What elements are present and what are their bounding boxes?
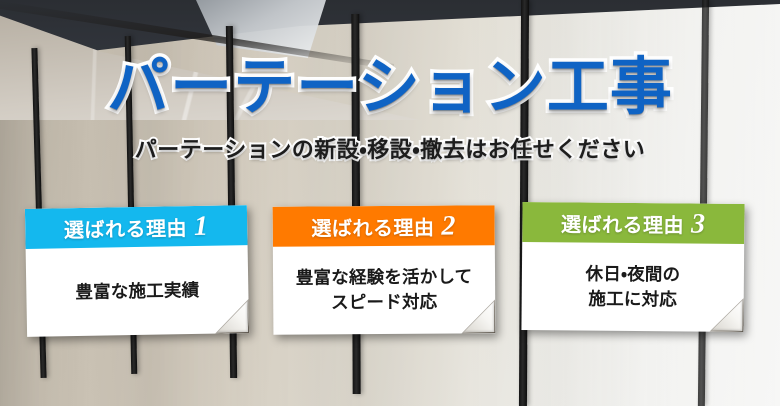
reason-card-3-body-text: 休日・夜間の 施工に対応 [585,262,680,313]
reason-card-3-body-line-2: 施工に対応 [585,287,680,313]
reason-card-list: 選ばれる理由 1 豊富な施工実績 選ばれる理由 2 豊富な経験 [0,0,780,406]
reason-card-1-number: 1 [194,213,209,241]
reason-card-2-body: 豊富な経験を活かして スピード対応 [273,245,496,335]
partition-construction-banner: パーテーション工事 パーテーションの新設・移設・撤去はお任せください 選ばれる理… [0,0,780,406]
reason-card-2-number: 2 [441,212,456,240]
reason-card-3-header: 選ばれる理由 3 [522,202,744,244]
reason-card-3[interactable]: 選ばれる理由 3 休日・夜間の 施工に対応 [521,202,744,332]
reason-card-2-body-line-1: 豊富な経験を活かして [296,265,473,291]
reason-card-1-header: 選ばれる理由 1 [25,205,248,249]
reason-card-3-number: 3 [691,211,706,239]
reason-card-1-body: 豊富な施工実績 [26,245,250,337]
reason-card-2-body-line-2: スピード対応 [296,289,473,315]
reason-card-1-body-line-1: 豊富な施工実績 [75,277,199,304]
reason-card-1[interactable]: 選ばれる理由 1 豊富な施工実績 [25,205,249,337]
reason-card-1-body-text: 豊富な施工実績 [75,277,199,304]
reason-card-2[interactable]: 選ばれる理由 2 豊富な経験を活かして スピード対応 [273,205,496,335]
reason-card-2-header-label: 選ばれる理由 [311,211,434,241]
reason-card-1-header-label: 選ばれる理由 [64,212,187,243]
reason-card-3-body-line-1: 休日・夜間の [585,262,680,288]
page-peel-corner-icon [709,298,743,332]
reason-card-2-header: 選ばれる理由 2 [273,205,495,247]
reason-card-3-header-label: 選ばれる理由 [561,208,684,238]
reason-card-3-body: 休日・夜間の 施工に対応 [521,242,744,332]
reason-card-2-body-text: 豊富な経験を活かして スピード対応 [296,265,473,316]
page-peel-corner-icon [215,299,250,334]
